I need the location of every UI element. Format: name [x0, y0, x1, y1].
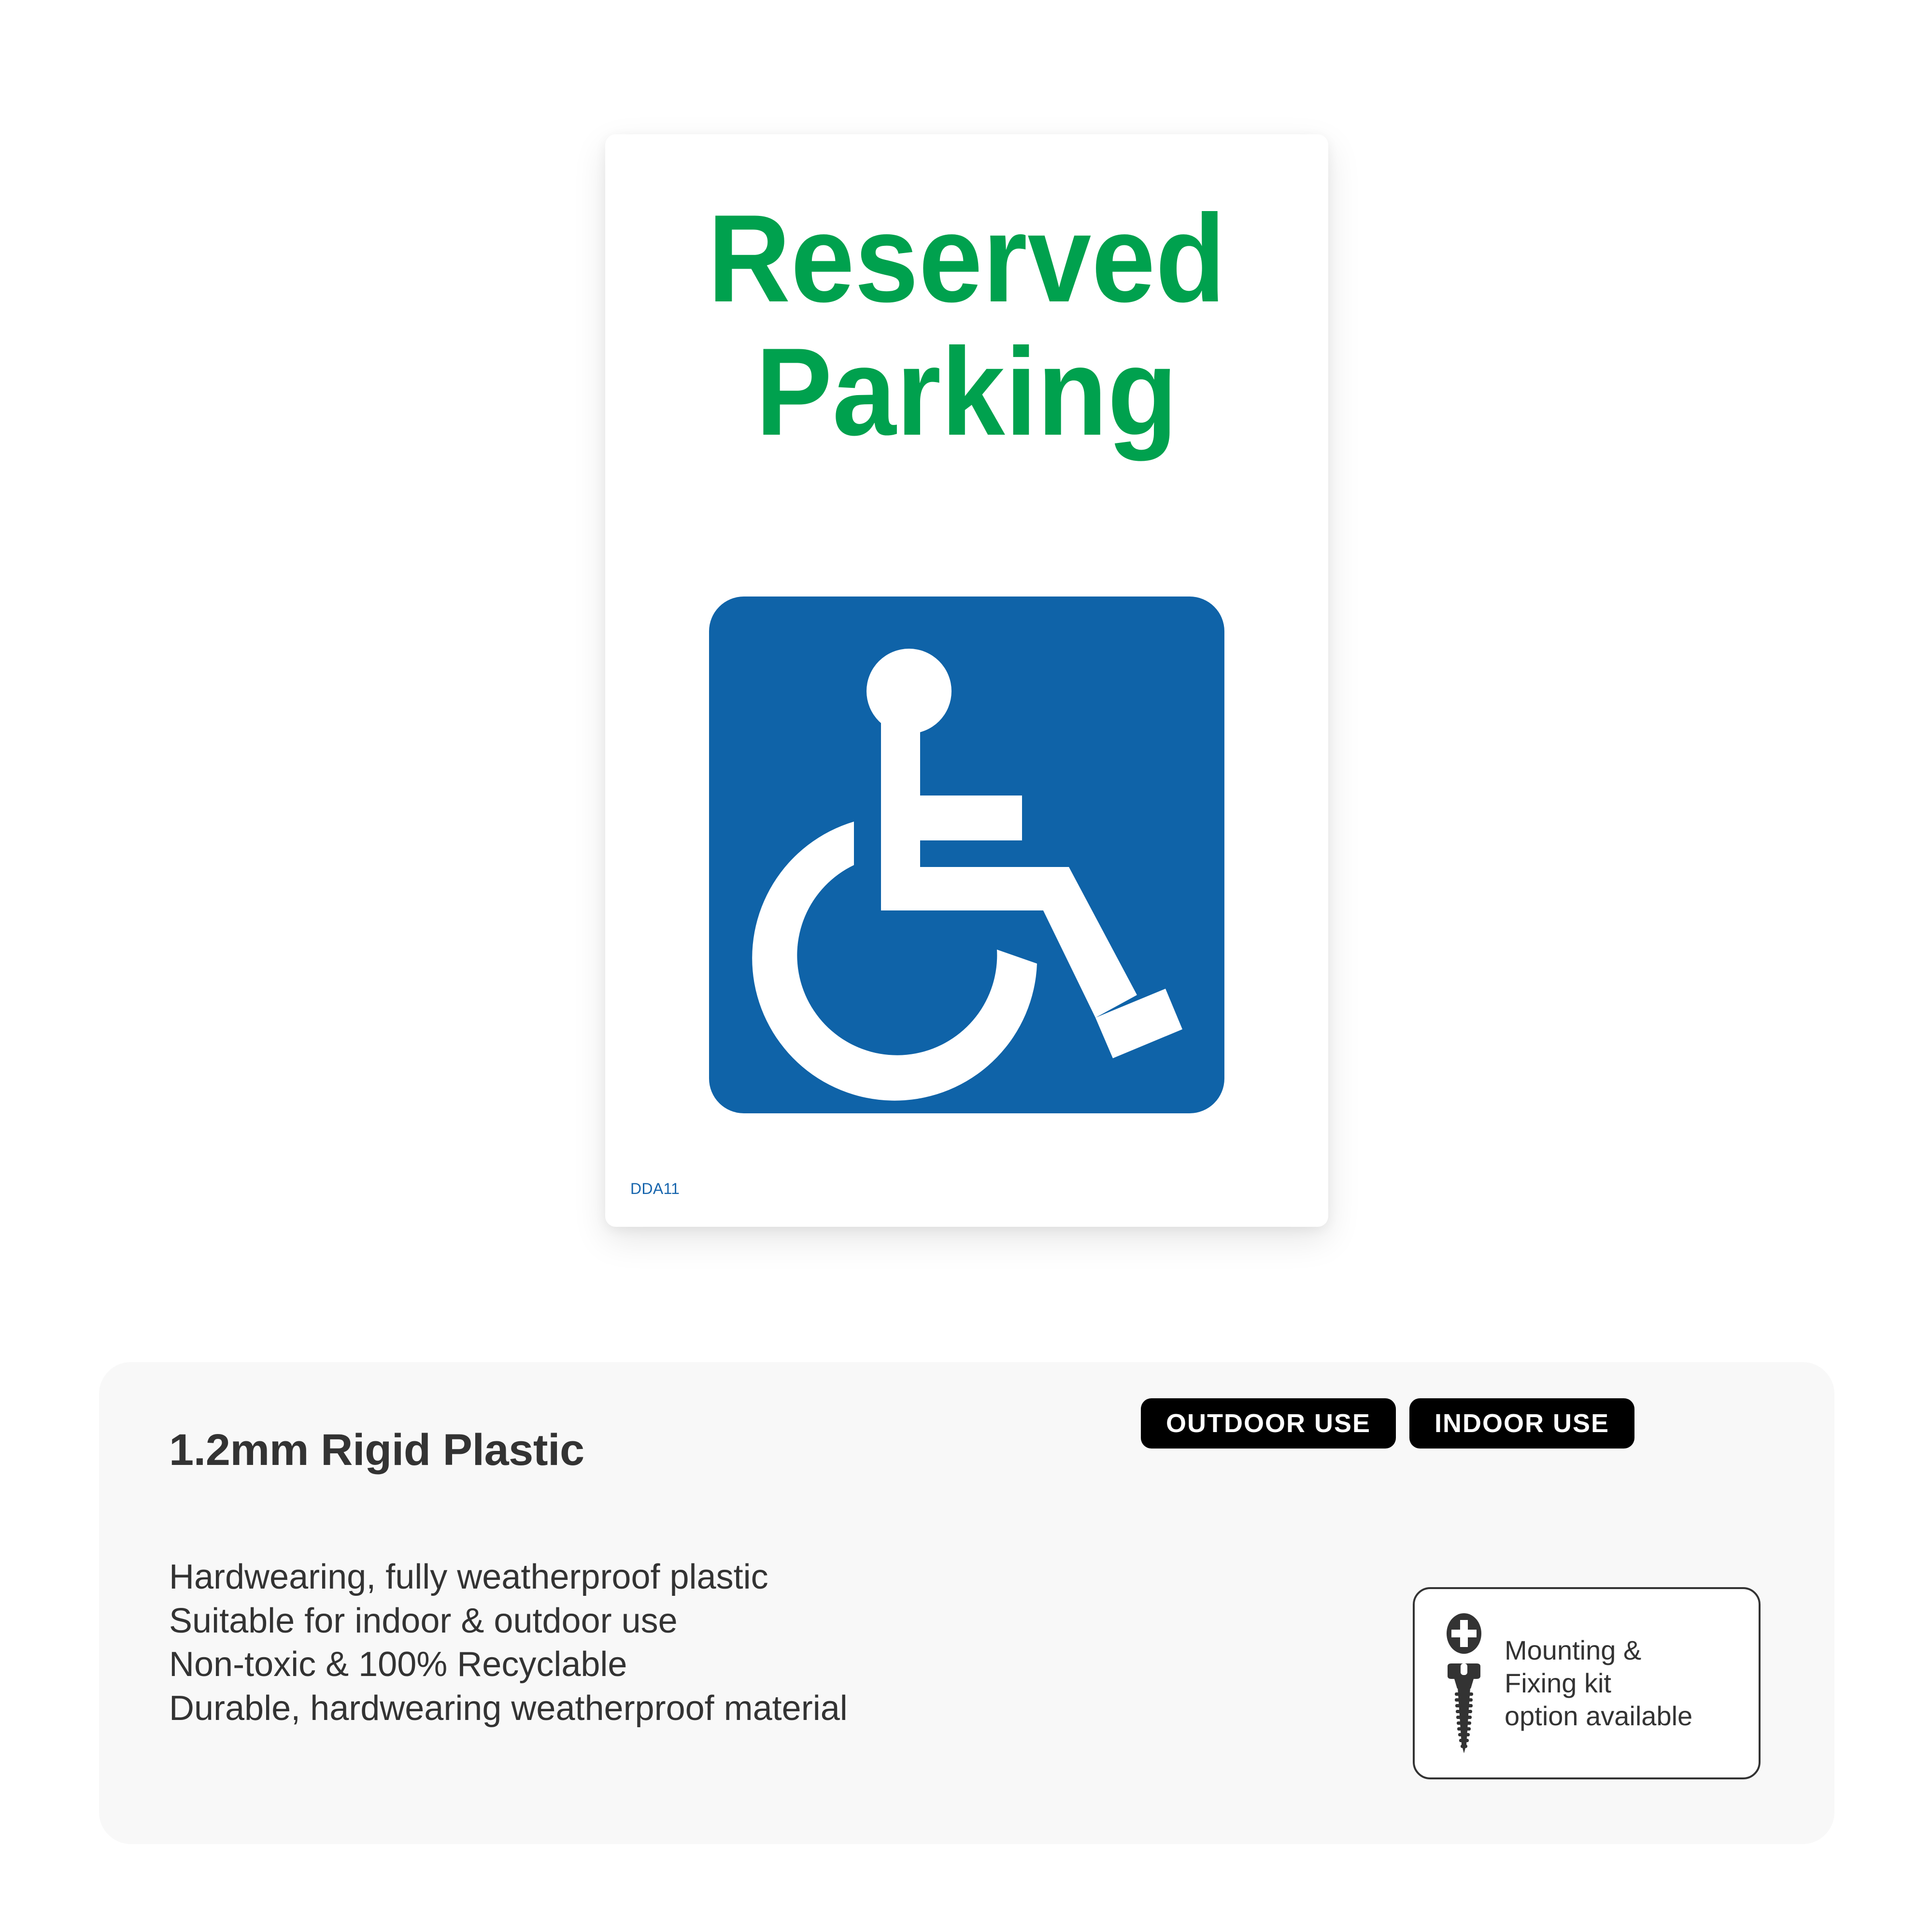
feature-item: Non-toxic & 100% Recyclable: [169, 1643, 848, 1687]
sign-preview-card[interactable]: Reserved Parking DDA11: [605, 134, 1328, 1227]
mounting-fixing-kit-callout[interactable]: Mounting & Fixing kit option available: [1413, 1587, 1761, 1779]
sign-title: Reserved Parking: [605, 134, 1328, 454]
sign-title-line-1: Reserved: [634, 196, 1299, 321]
feature-item: Suitable for indoor & outdoor use: [169, 1599, 848, 1643]
product-code-label: DDA11: [630, 1180, 680, 1198]
mounting-kit-text: Mounting & Fixing kit option available: [1505, 1634, 1692, 1733]
mounting-icon-group: [1435, 1612, 1493, 1754]
screw-icon: [1446, 1663, 1482, 1754]
screw-head-icon: [1446, 1612, 1482, 1655]
feature-item: Hardwearing, fully weatherproof plastic: [169, 1555, 848, 1599]
outdoor-use-badge[interactable]: OUTDOOR USE: [1141, 1398, 1396, 1449]
mounting-kit-line: Fixing kit: [1505, 1667, 1692, 1700]
mounting-kit-line: Mounting &: [1505, 1634, 1692, 1667]
feature-list: Hardwearing, fully weatherproof plastic …: [169, 1555, 848, 1731]
material-title: 1.2mm Rigid Plastic: [169, 1425, 584, 1476]
feature-item: Durable, hardwearing weatherproof materi…: [169, 1687, 848, 1731]
mounting-kit-line: option available: [1505, 1700, 1692, 1733]
indoor-use-badge[interactable]: INDOOR USE: [1409, 1398, 1634, 1449]
use-badge-group: OUTDOOR USE INDOOR USE: [1141, 1398, 1634, 1449]
sign-title-line-2: Parking: [634, 329, 1299, 454]
wheelchair-accessible-symbol-icon: [709, 597, 1224, 1113]
